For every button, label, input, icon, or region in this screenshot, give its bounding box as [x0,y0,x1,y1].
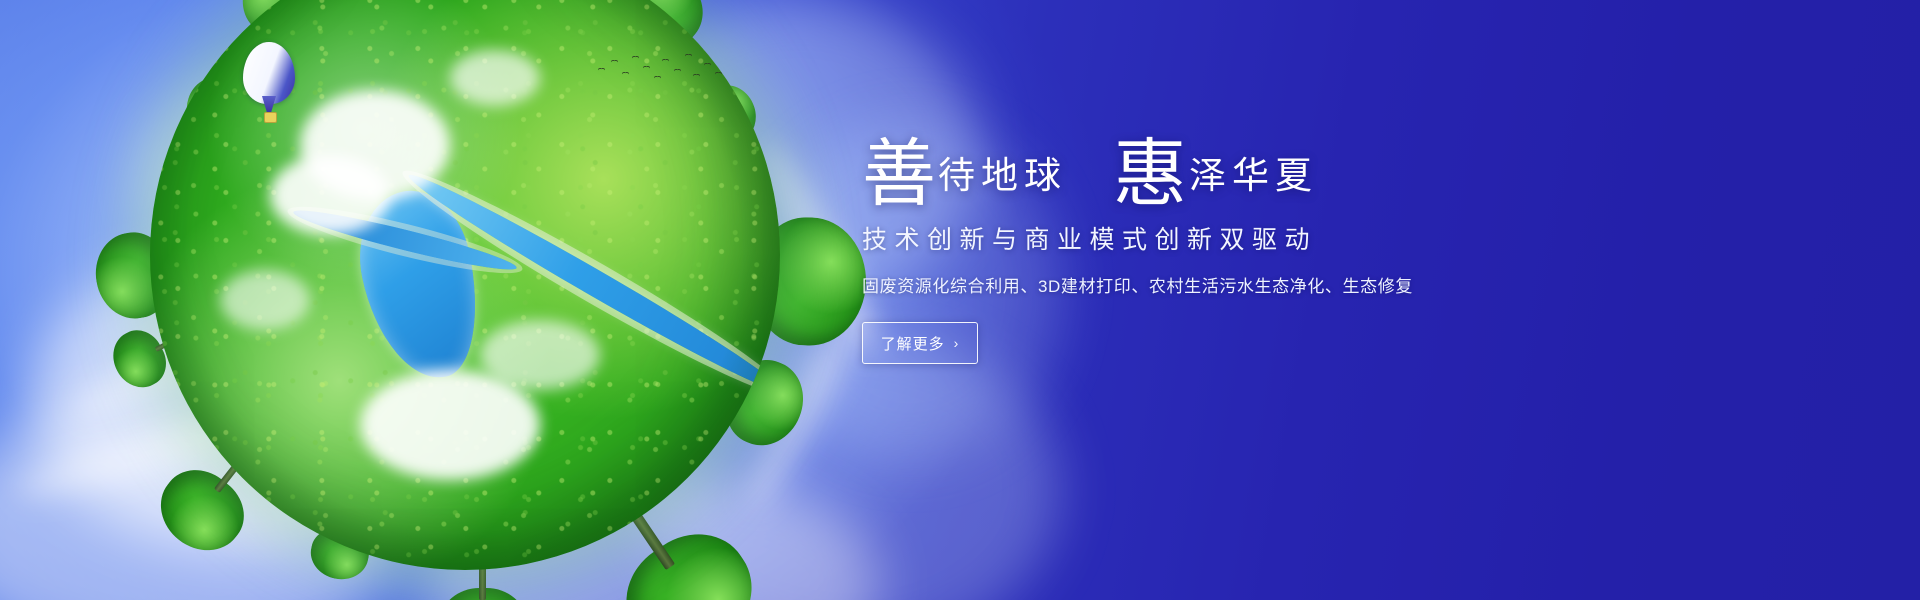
chevron-right-icon: › [954,335,960,351]
hero-subtitle: 技术创新与商业模式创新双驱动 [862,220,1562,256]
balloon-basket [264,112,277,123]
balloon-envelope [243,42,295,104]
headline-rest-1: 待地球 [938,157,1067,194]
headline-lead-2: 惠 [1113,140,1187,208]
balloon-taper [262,96,276,112]
page-title: 善 待地球 惠 泽华夏 [862,120,1562,204]
birds-flock [598,50,728,94]
hero-description: 固废资源化综合利用、3D建材打印、农村生活污水生态净化、生态修复 [862,272,1562,297]
headline-rest-2: 泽华夏 [1189,157,1318,194]
hot-air-balloon-icon [243,42,295,124]
headline-lead-1: 善 [862,140,936,208]
learn-more-label: 了解更多 [881,333,945,354]
hero-banner: 善 待地球 惠 泽华夏 技术创新与商业模式创新双驱动 固废资源化综合利用、3D建… [0,0,1920,600]
hero-copy-block: 善 待地球 惠 泽华夏 技术创新与商业模式创新双驱动 固废资源化综合利用、3D建… [862,120,1562,364]
learn-more-button[interactable]: 了解更多 › [862,322,978,364]
